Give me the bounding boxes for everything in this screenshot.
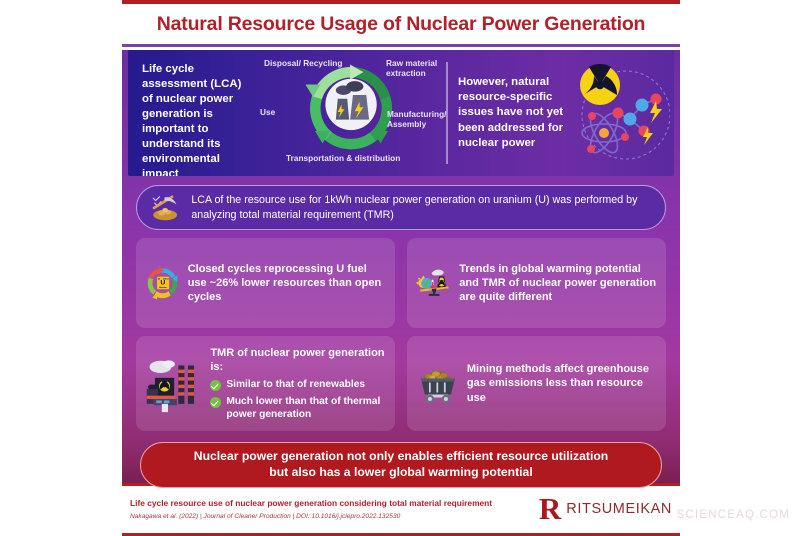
card-global-warming-trends: Trends in global warming potential and T…: [407, 238, 666, 328]
card-tmr-body: TMR of nuclear power generation is: Simi…: [210, 346, 387, 422]
ritsumeikan-logo: R RITSUMEIKAN: [539, 497, 674, 522]
card-mining-methods-text: Mining methods affect greenhouse gas emi…: [467, 362, 658, 405]
page-title: Natural Resource Usage of Nuclear Power …: [157, 13, 646, 36]
card-tmr-bullet-1: Similar to that of renewables: [210, 379, 387, 392]
card-tmr-comparison: TMR of nuclear power generation is: Simi…: [136, 336, 395, 431]
power-plant-icon: [144, 341, 204, 427]
lca-banner: LCA of the resource use for 1kWh nuclear…: [136, 185, 666, 230]
card-tmr-bullet-2: Much lower than that of thermal power ge…: [210, 396, 387, 422]
card-tmr-bullet-2-text: Much lower than that of thermal power ge…: [226, 396, 387, 422]
lifecycle-label-manufacturing: Manufacturing/ Assembly: [387, 110, 446, 130]
hero-right-text: However, natural resource-specific issue…: [458, 75, 566, 150]
radiation-molecule-icon: [570, 59, 670, 167]
title-underline: [122, 44, 680, 47]
hero-section: Life cycle assessment (LCA) of nuclear p…: [128, 50, 674, 176]
svg-text:238.03: 238.03: [163, 279, 169, 281]
svg-text:Uranium: Uranium: [159, 287, 167, 289]
hero-left-text: Life cycle assessment (LCA) of nuclear p…: [128, 50, 256, 176]
card-closed-cycles-text: Closed cycles reprocessing U fuel use ~2…: [188, 262, 387, 305]
infographic-page: Natural Resource Usage of Nuclear Power …: [0, 0, 800, 530]
hero-right-section: However, natural resource-specific issue…: [448, 50, 674, 176]
earth-reactor-balance-icon: [415, 243, 453, 323]
site-watermark: SCIENCEAQ.COM: [677, 509, 790, 521]
lifecycle-label-raw-material: Raw material extraction: [386, 59, 446, 79]
conclusion-body: Nuclear power generation not only enable…: [194, 449, 608, 481]
card-tmr-title: TMR of nuclear power generation is:: [210, 346, 387, 375]
lca-banner-text: LCA of the resource use for 1kWh nuclear…: [191, 193, 649, 222]
card-closed-cycles: U 92 238.03 Uranium Closed cycles reproc…: [136, 238, 395, 328]
infographic-body: Life cycle assessment (LCA) of nuclear p…: [122, 50, 680, 483]
footer: Life cycle resource use of nuclear power…: [122, 486, 680, 533]
conclusion-line-2: but also has a lower global warming pote…: [194, 465, 608, 481]
infographic-frame: Natural Resource Usage of Nuclear Power …: [122, 0, 680, 530]
lifecycle-label-disposal: Disposal/ Recycling: [264, 59, 342, 69]
title-bar: Natural Resource Usage of Nuclear Power …: [122, 4, 680, 44]
findings-grid: U 92 238.03 Uranium Closed cycles reproc…: [136, 238, 666, 431]
card-mining-methods: Mining methods affect greenhouse gas emi…: [407, 336, 666, 431]
paper-title: Life cycle resource use of nuclear power…: [130, 498, 539, 509]
pickaxe-ore-icon: [149, 190, 181, 226]
mining-cart-icon: [415, 343, 461, 425]
ritsumeikan-logo-mark: R: [539, 497, 561, 522]
lifecycle-label-transportation: Transportation & distribution: [286, 154, 400, 164]
check-icon: [210, 380, 221, 391]
conclusion-banner: Nuclear power generation not only enable…: [140, 442, 662, 488]
card-global-warming-trends-text: Trends in global warming potential and T…: [459, 262, 658, 305]
lifecycle-label-use: Use: [260, 108, 275, 118]
ritsumeikan-logo-name: RITSUMEIKAN: [566, 501, 672, 517]
conclusion-line-1: Nuclear power generation not only enable…: [194, 449, 608, 465]
footer-reference: Life cycle resource use of nuclear power…: [130, 498, 539, 520]
lifecycle-diagram: Disposal/ Recycling Raw material extract…: [256, 50, 446, 176]
card-tmr-bullet-1-text: Similar to that of renewables: [226, 379, 365, 392]
check-icon: [210, 397, 221, 408]
uranium-recycle-icon: U 92 238.03 Uranium: [144, 245, 182, 321]
paper-citation: Nakagawa et al. (2022) | Journal of Clea…: [130, 513, 539, 520]
footer-bottom-rule: [122, 533, 680, 536]
